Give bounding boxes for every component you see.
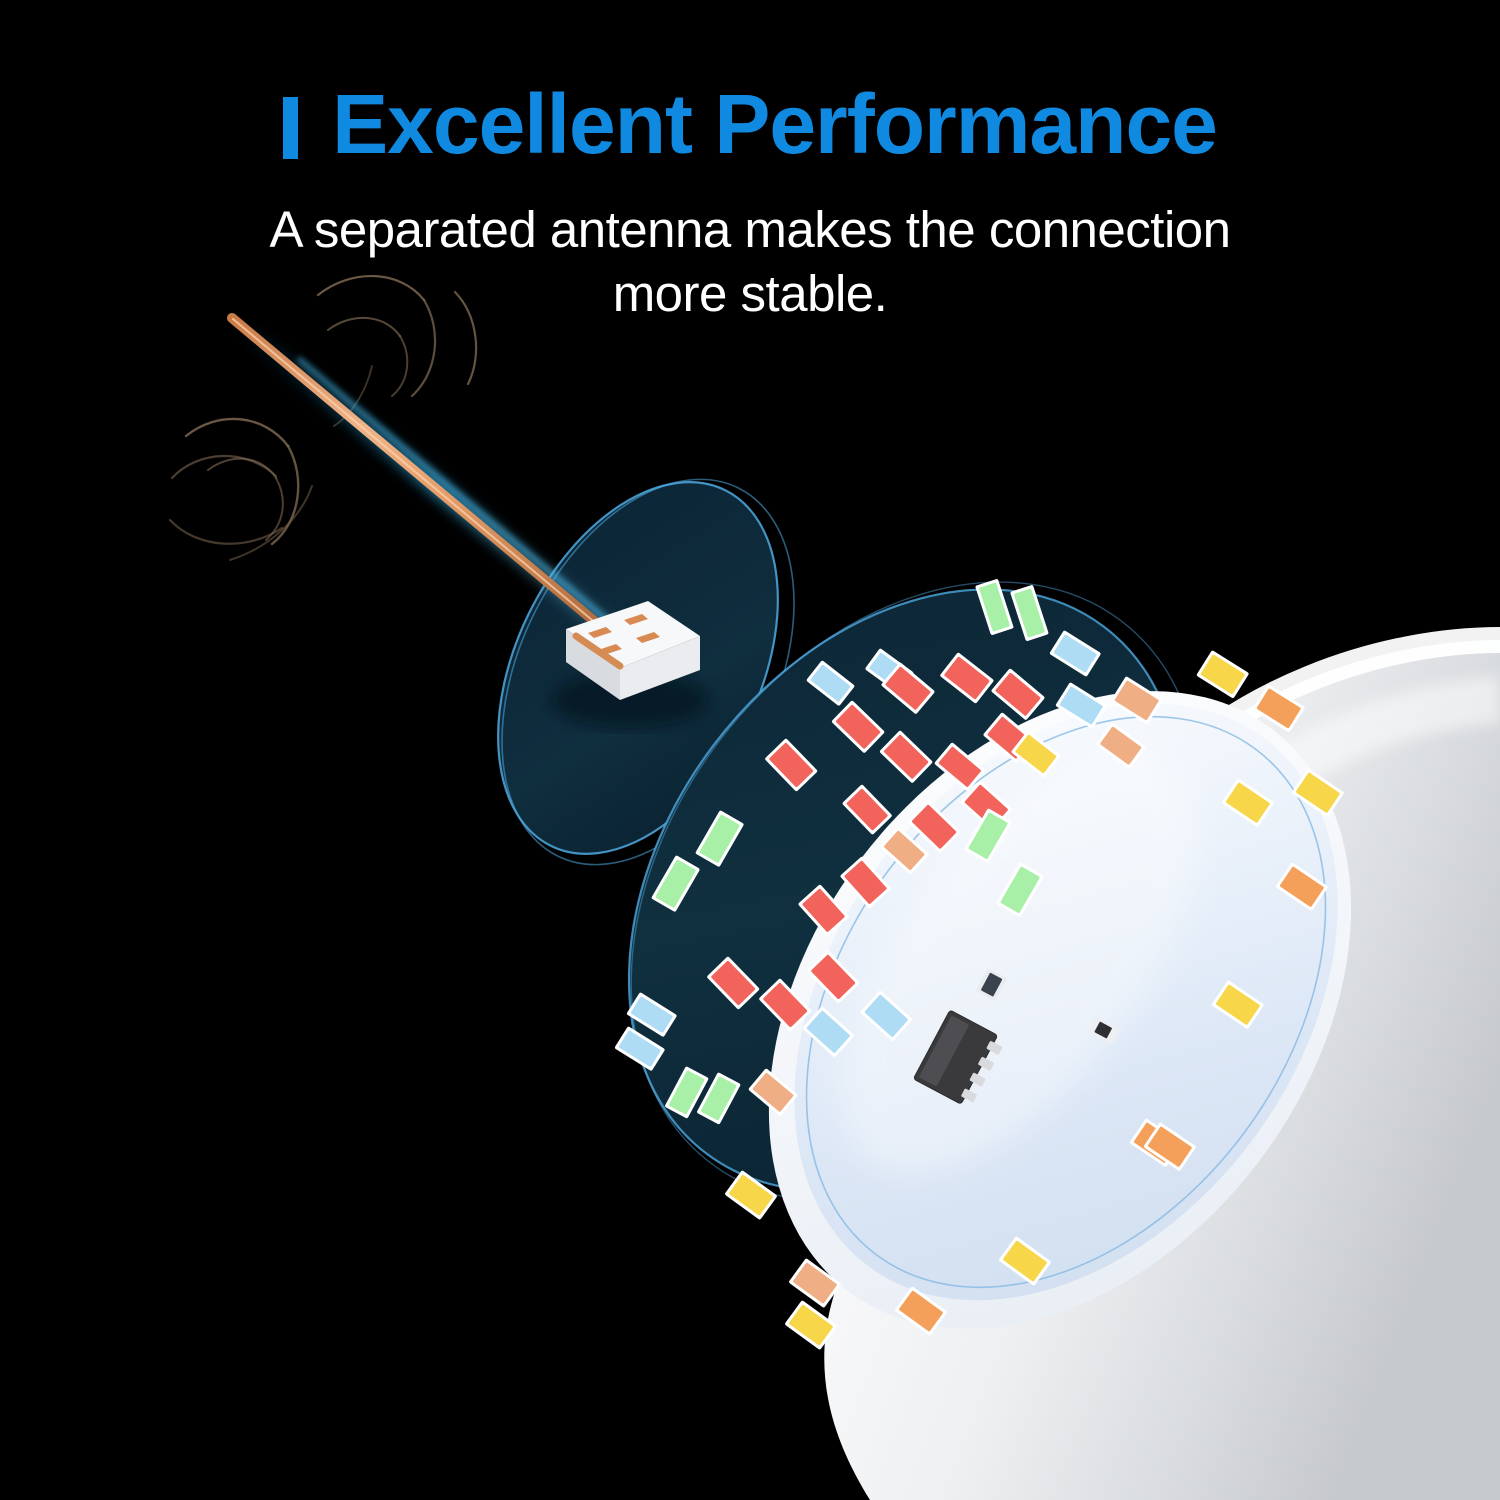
- page-subtitle: A separated antenna makes the connection…: [150, 198, 1350, 327]
- subtitle-line-2: more stable.: [613, 265, 888, 322]
- title-accent-bar: [283, 97, 298, 159]
- poster-canvas: Excellent Performance A separated antenn…: [0, 0, 1500, 1500]
- page-title: Excellent Performance: [0, 82, 1500, 168]
- title-text: Excellent Performance: [332, 77, 1217, 171]
- subtitle-line-1: A separated antenna makes the connection: [269, 201, 1230, 258]
